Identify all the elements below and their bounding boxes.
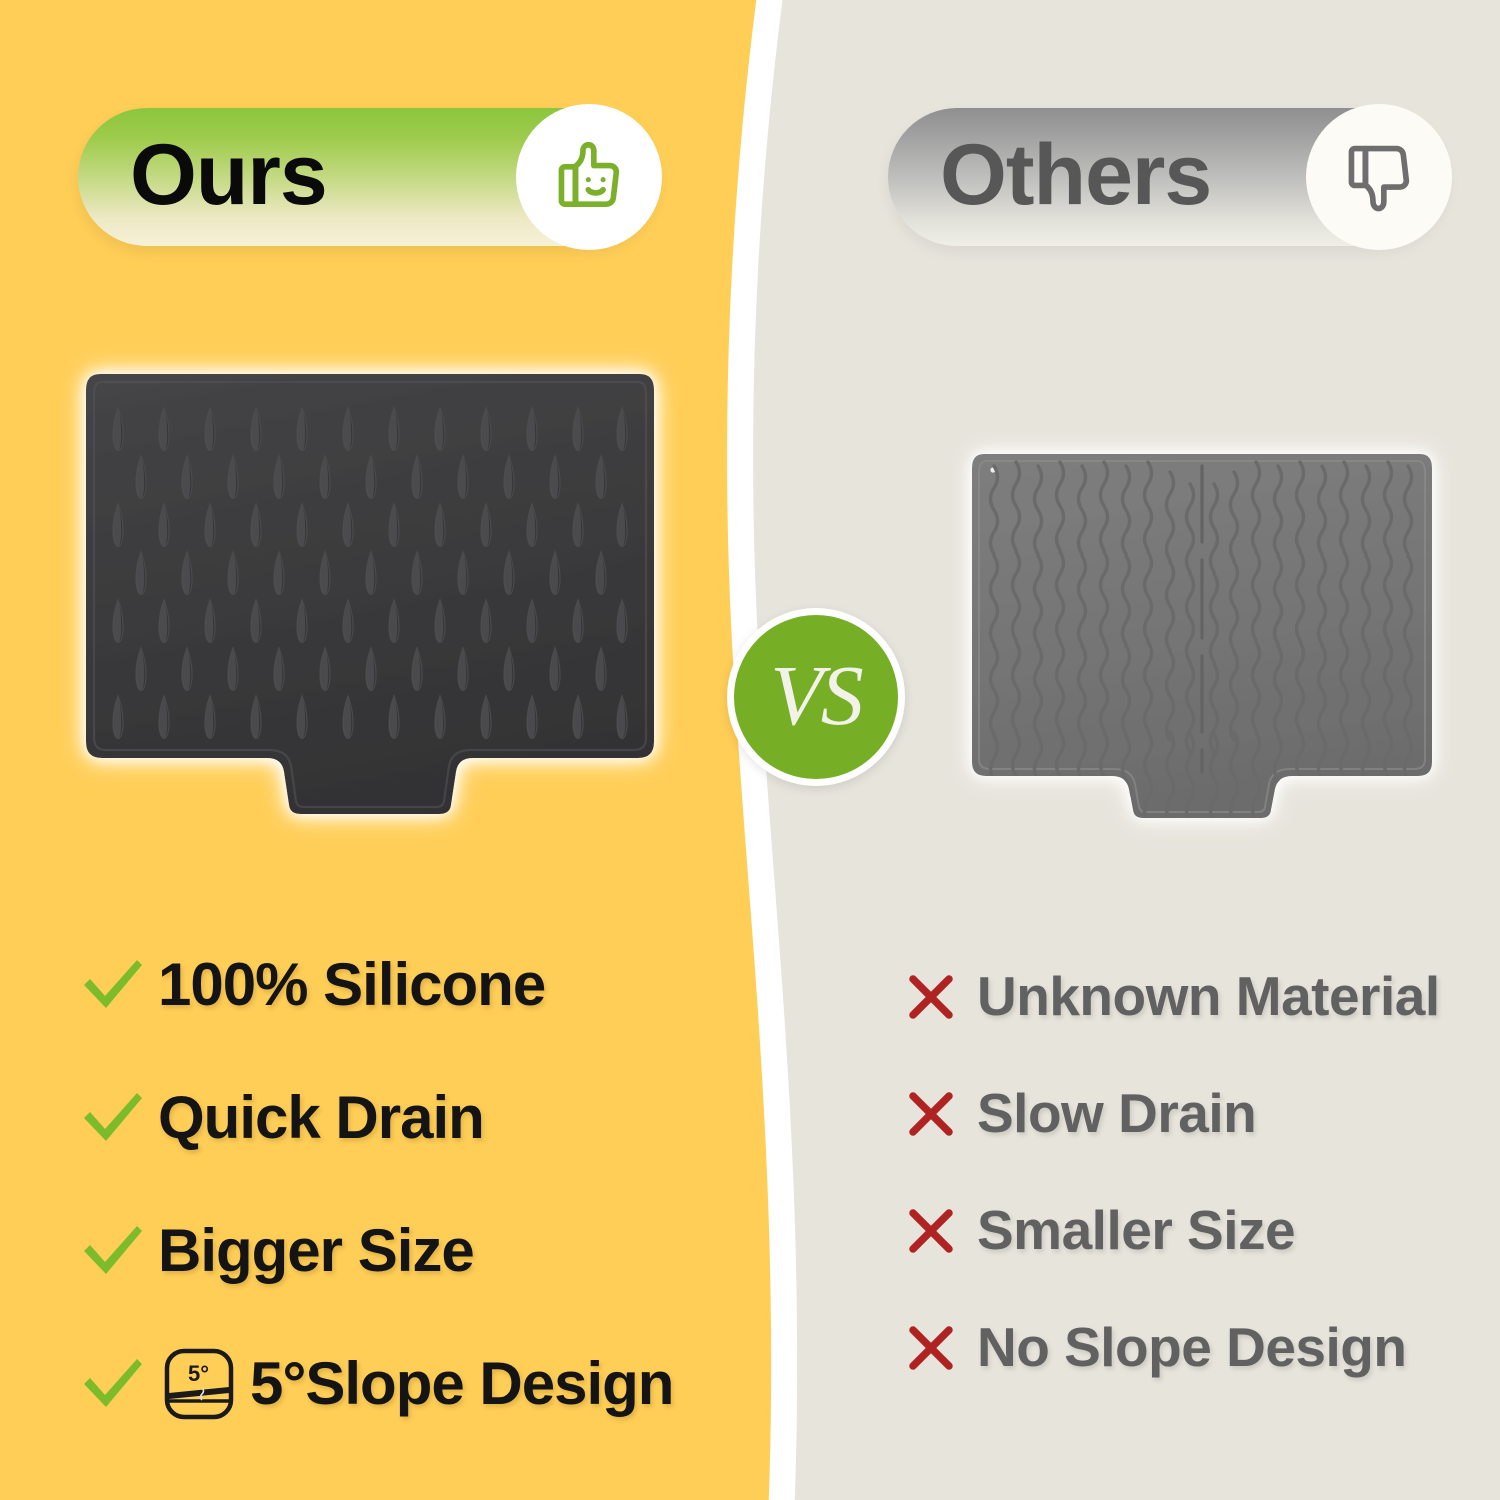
cross-icon bbox=[905, 1088, 977, 1140]
feature-row-silicone: 100% Silicone bbox=[80, 918, 780, 1051]
feature-label: 5°Slope Design bbox=[250, 1354, 673, 1414]
cross-icon bbox=[905, 1322, 977, 1374]
ours-product-image bbox=[60, 342, 680, 872]
feature-row-smaller-size: Smaller Size bbox=[905, 1172, 1485, 1289]
feature-label: Slow Drain bbox=[977, 1086, 1256, 1141]
ours-mat-svg bbox=[60, 342, 680, 872]
feature-label: 100% Silicone bbox=[158, 955, 545, 1015]
feature-row-no-slope-design: No Slope Design bbox=[905, 1289, 1485, 1406]
check-icon bbox=[80, 1354, 158, 1414]
slope-5-degree-icon: 5° bbox=[158, 1343, 240, 1425]
feature-label: Quick Drain bbox=[158, 1088, 484, 1148]
thumbs-down-icon bbox=[1336, 134, 1422, 220]
others-badge-icon-circle bbox=[1306, 104, 1452, 250]
ours-badge: Ours bbox=[78, 108, 658, 246]
check-icon bbox=[80, 1221, 158, 1281]
vs-label: VS bbox=[770, 652, 862, 738]
ours-badge-icon-circle bbox=[516, 104, 662, 250]
check-icon bbox=[80, 955, 158, 1015]
others-mat-svg bbox=[952, 432, 1452, 857]
feature-row-slow-drain: Slow Drain bbox=[905, 1055, 1485, 1172]
check-icon bbox=[80, 1088, 158, 1148]
feature-row-bigger-size: Bigger Size bbox=[80, 1184, 780, 1317]
svg-text:5°: 5° bbox=[188, 1361, 209, 1386]
others-product-image bbox=[952, 432, 1452, 857]
feature-row-unknown-material: Unknown Material bbox=[905, 938, 1485, 1055]
others-badge: Others bbox=[888, 108, 1448, 246]
comparison-infographic: Ours Others bbox=[0, 0, 1500, 1500]
feature-label: Smaller Size bbox=[977, 1203, 1295, 1258]
vs-badge: VS bbox=[727, 608, 905, 786]
ours-feature-list: 100% Silicone Quick Drain Bigger Size bbox=[80, 918, 780, 1450]
feature-label: No Slope Design bbox=[977, 1320, 1407, 1375]
feature-row-slope-design: 5° 5°Slope Design bbox=[80, 1317, 780, 1450]
others-feature-list: Unknown Material Slow Drain bbox=[905, 938, 1485, 1406]
cross-icon bbox=[905, 1205, 977, 1257]
feature-row-quick-drain: Quick Drain bbox=[80, 1051, 780, 1184]
thumbs-up-smiley-icon bbox=[546, 134, 632, 220]
feature-label: Unknown Material bbox=[977, 969, 1440, 1024]
cross-icon bbox=[905, 971, 977, 1023]
others-badge-title: Others bbox=[940, 132, 1211, 218]
ours-badge-title: Ours bbox=[130, 132, 327, 218]
feature-label: Bigger Size bbox=[158, 1221, 474, 1281]
